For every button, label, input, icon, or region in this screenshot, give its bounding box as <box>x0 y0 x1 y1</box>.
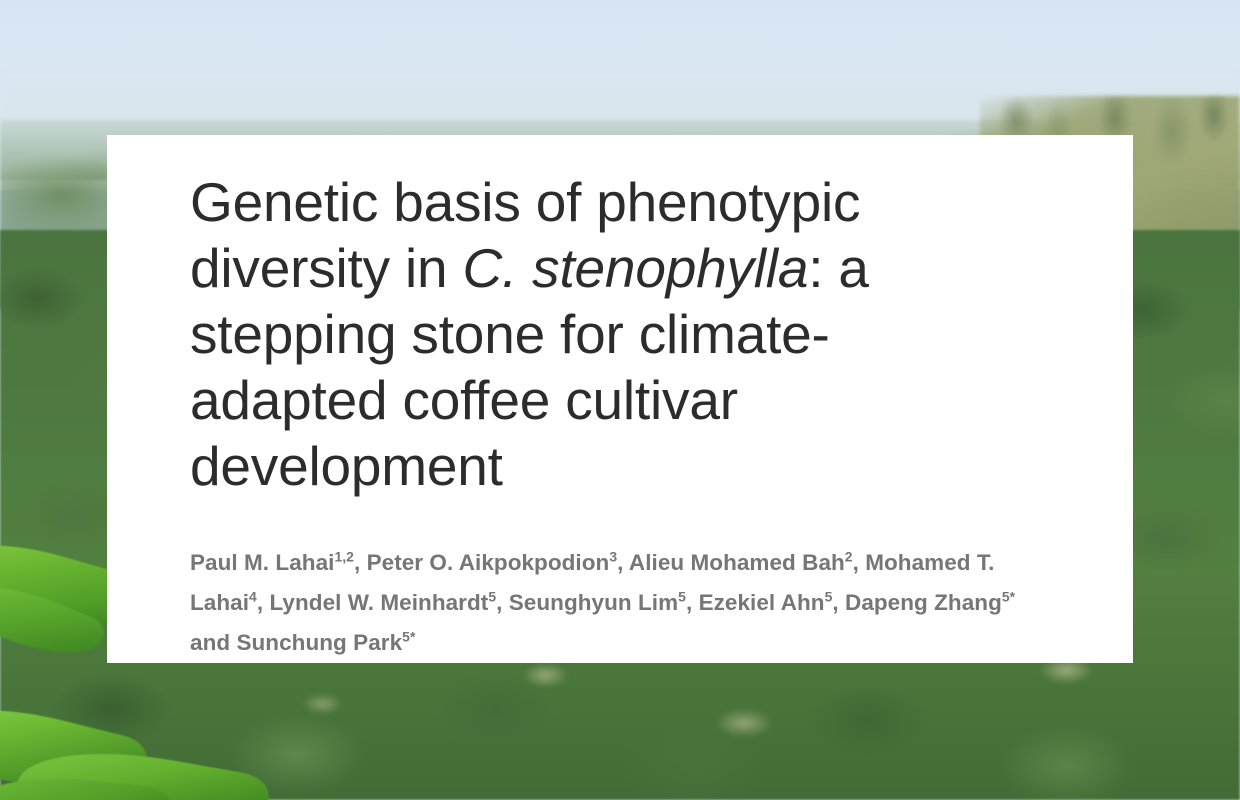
author-name: Dapeng Zhang <box>845 590 1002 615</box>
author-name: Seunghyun Lim <box>509 590 678 615</box>
article-cover-page: Genetic basis of phenotypic diversity in… <box>0 0 1240 800</box>
title-line-2-suffix: : a <box>808 237 869 299</box>
author-entry: Ezekiel Ahn5, <box>699 590 845 615</box>
author-name: Ezekiel Ahn <box>699 590 825 615</box>
author-affiliation: 5 <box>678 589 686 605</box>
author-affiliation: 1,2 <box>334 549 354 565</box>
author-affiliation: 4 <box>249 589 257 605</box>
author-affiliation: 2 <box>845 549 853 565</box>
author-separator: , <box>496 590 509 615</box>
author-separator: , <box>257 590 270 615</box>
title-card: Genetic basis of phenotypic diversity in… <box>107 135 1133 663</box>
page-title: Genetic basis of phenotypic diversity in… <box>190 169 1020 499</box>
author-affiliation: 3 <box>609 549 617 565</box>
author-separator: , <box>354 550 367 575</box>
title-line-5: development <box>190 435 503 497</box>
author-entry: Seunghyun Lim5, <box>509 590 699 615</box>
author-name: Paul M. Lahai <box>190 550 334 575</box>
author-list: Paul M. Lahai1,2, Peter O. Aikpokpodion3… <box>190 543 1047 663</box>
title-line-1: Genetic basis of phenotypic <box>190 171 860 233</box>
author-separator: , <box>853 550 866 575</box>
author-entry: Sunchung Park5* <box>236 630 415 655</box>
author-entry: Peter O. Aikpokpodion3, <box>367 550 629 575</box>
title-line-3: stepping stone for <box>190 303 624 365</box>
author-entry: Lyndel W. Meinhardt5, <box>269 590 508 615</box>
author-entry: Alieu Mohamed Bah2, <box>629 550 865 575</box>
title-species-prefix: diversity in <box>190 237 462 299</box>
author-affiliation: 5* <box>1002 589 1015 605</box>
author-separator: , <box>686 590 699 615</box>
author-name: Alieu Mohamed Bah <box>629 550 845 575</box>
author-name: Peter O. Aikpokpodion <box>367 550 610 575</box>
title-species-name: C. stenophylla <box>462 237 808 299</box>
author-name: Sunchung Park <box>236 630 402 655</box>
author-separator: , <box>832 590 845 615</box>
author-affiliation: 5 <box>488 589 496 605</box>
author-separator: , <box>617 550 629 575</box>
author-entry: Paul M. Lahai1,2, <box>190 550 367 575</box>
author-name: Lyndel W. Meinhardt <box>269 590 488 615</box>
author-affiliation: 5* <box>402 629 415 645</box>
author-separator: and <box>190 630 236 655</box>
